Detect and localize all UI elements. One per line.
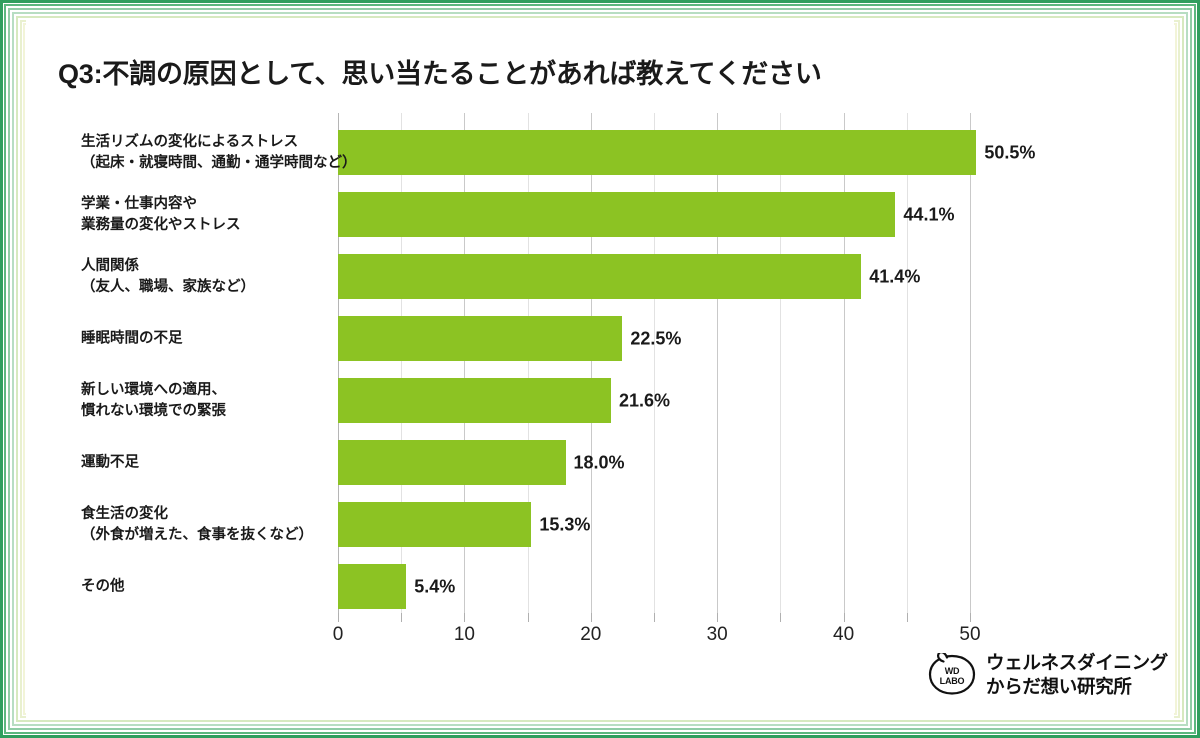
- category-label: 睡眠時間の不足: [81, 328, 331, 349]
- x-axis-tick: [907, 613, 908, 622]
- chart-page: Q3:不調の原因として、思い当たることがあれば教えてください 50.5%44.1…: [26, 20, 1174, 718]
- logo-badge-text: WD LABO: [926, 653, 978, 699]
- page-title: Q3:不調の原因として、思い当たることがあれば教えてください: [58, 52, 822, 91]
- bar: [338, 316, 622, 361]
- gridline-minor: [654, 113, 655, 613]
- bar: [338, 378, 611, 423]
- gridline-major: [591, 113, 592, 613]
- category-label: 生活リズムの変化によるストレス （起床・就寝時間、通勤・通学時間など）: [81, 131, 331, 173]
- category-label-text: 新しい環境への適用、 慣れない環境での緊張: [81, 379, 331, 421]
- bar-value-label: 18.0%: [574, 452, 625, 473]
- category-label: 食生活の変化 （外食が増えた、食事を抜くなど）: [81, 503, 331, 545]
- bar: [338, 130, 976, 175]
- logo-brand-name: ウェルネスダイニング からだ想い研究所: [986, 651, 1168, 699]
- bar: [338, 192, 895, 237]
- gridline-minor: [907, 113, 908, 613]
- logo-badge-line2: LABO: [940, 676, 965, 686]
- x-axis-tick: [844, 613, 845, 622]
- category-label-text: 食生活の変化 （外食が増えた、食事を抜くなど）: [81, 503, 331, 545]
- category-label: 学業・仕事内容や 業務量の変化やストレス: [81, 193, 331, 235]
- x-axis-tick: [338, 613, 339, 622]
- bar: [338, 254, 861, 299]
- x-axis-tick: [528, 613, 529, 622]
- bar-value-label: 22.5%: [630, 328, 681, 349]
- x-axis-tick-label: 20: [580, 624, 601, 646]
- x-axis-tick: [401, 613, 402, 622]
- bar: [338, 564, 406, 609]
- category-label: 新しい環境への適用、 慣れない環境での緊張: [81, 379, 331, 421]
- category-label: その他: [81, 576, 331, 597]
- bar-value-label: 50.5%: [984, 142, 1035, 163]
- x-axis-tick: [591, 613, 592, 622]
- category-label-text: 人間関係 （友人、職場、家族など）: [81, 255, 331, 297]
- category-label: 運動不足: [81, 452, 331, 473]
- x-axis-tick: [717, 613, 718, 622]
- x-axis-tick-label: 0: [333, 624, 344, 646]
- category-label-text: 運動不足: [81, 452, 331, 473]
- bar-value-label: 15.3%: [539, 514, 590, 535]
- x-axis-tick: [654, 613, 655, 622]
- bar: [338, 440, 566, 485]
- logo-badge-line1: WD: [945, 666, 960, 676]
- gridline-major: [717, 113, 718, 613]
- category-label-text: 学業・仕事内容や 業務量の変化やストレス: [81, 193, 331, 235]
- bar-value-label: 5.4%: [414, 576, 455, 597]
- bar-value-label: 21.6%: [619, 390, 670, 411]
- x-axis-tick-label: 50: [959, 624, 980, 646]
- bar-chart-plot-area: 50.5%44.1%41.4%22.5%21.6%18.0%15.3%5.4% …: [338, 113, 1028, 613]
- x-axis-tick: [970, 613, 971, 622]
- x-axis-tick-label: 10: [454, 624, 475, 646]
- x-axis-tick: [780, 613, 781, 622]
- bar: [338, 502, 531, 547]
- bar-value-label: 44.1%: [903, 204, 954, 225]
- bar-value-label: 41.4%: [869, 266, 920, 287]
- x-axis-tick-label: 30: [707, 624, 728, 646]
- category-label: 人間関係 （友人、職場、家族など）: [81, 255, 331, 297]
- gridline-major: [844, 113, 845, 613]
- category-label-text: その他: [81, 576, 331, 597]
- x-axis-tick-label: 40: [833, 624, 854, 646]
- gridline-major: [970, 113, 971, 613]
- category-label-text: 生活リズムの変化によるストレス （起床・就寝時間、通勤・通学時間など）: [81, 131, 331, 173]
- category-label-text: 睡眠時間の不足: [81, 328, 331, 349]
- gridline-minor: [780, 113, 781, 613]
- x-axis-tick: [464, 613, 465, 622]
- brand-logo: WD LABO ウェルネスダイニング からだ想い研究所: [926, 645, 1156, 703]
